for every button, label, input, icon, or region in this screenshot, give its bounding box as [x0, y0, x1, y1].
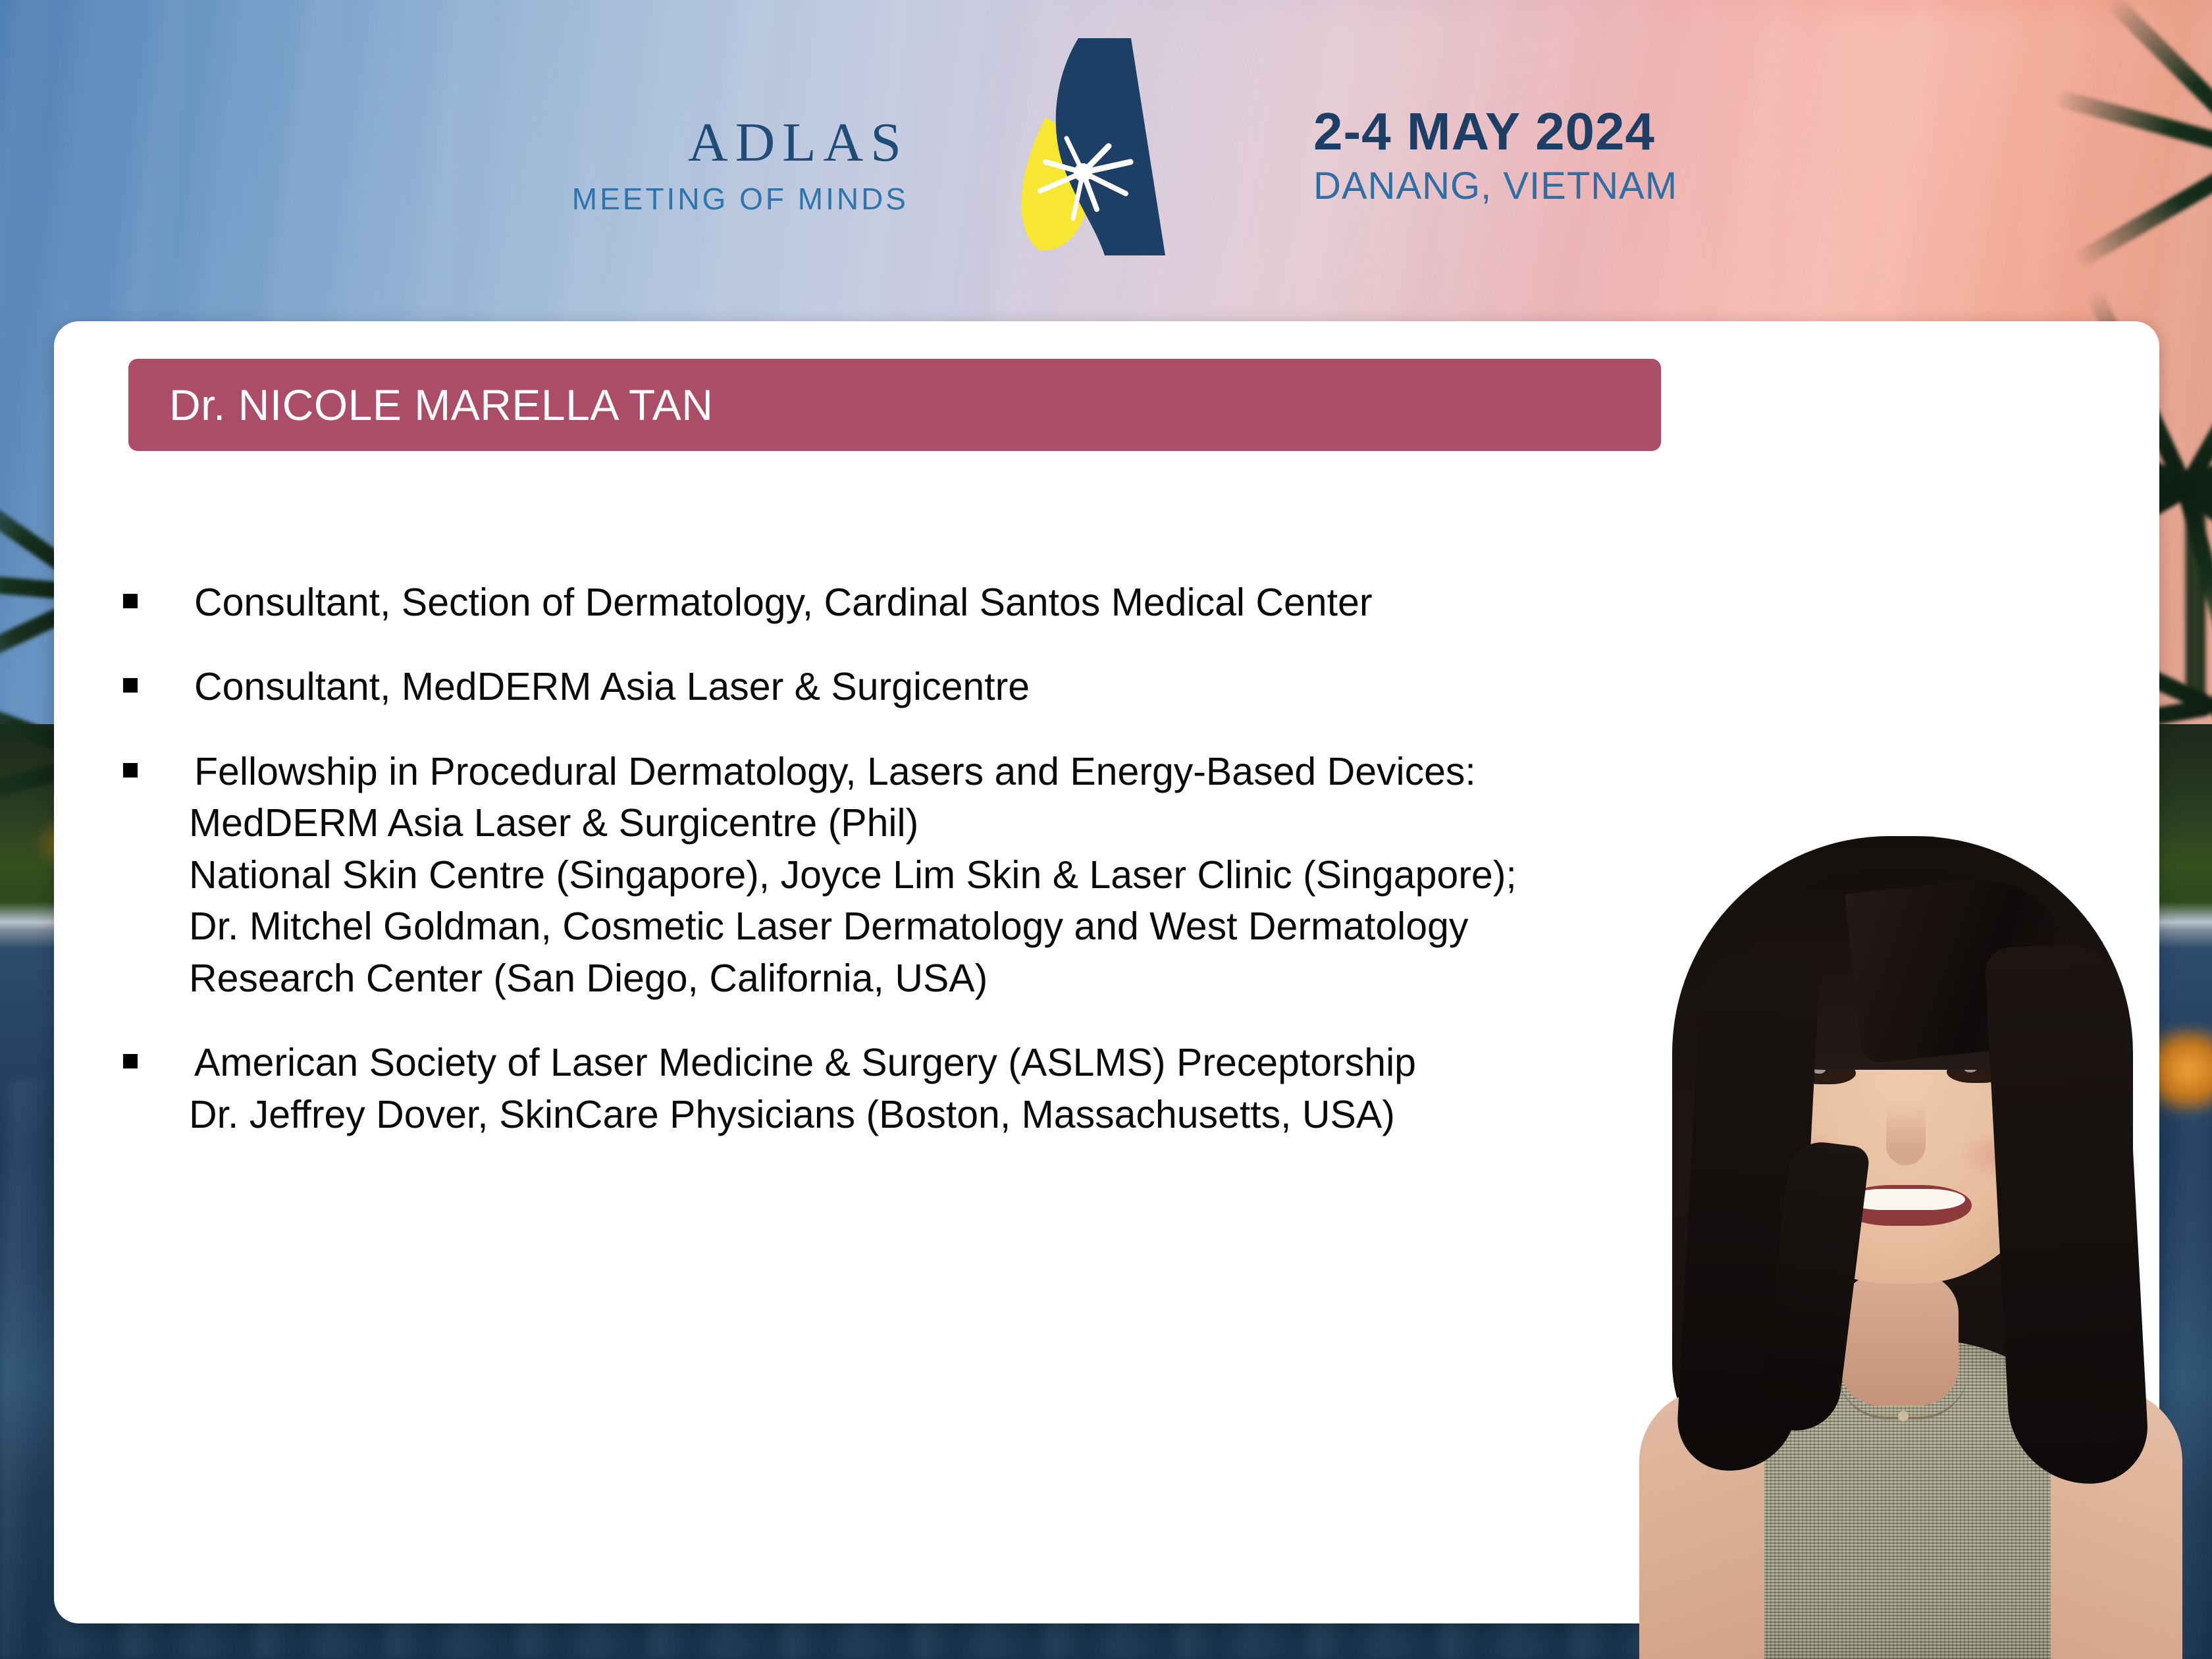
- bullet-square-icon: [123, 678, 138, 693]
- speaker-bio-list: Consultant, Section of Dermatology, Card…: [123, 577, 1808, 1173]
- bio-line: Consultant, Section of Dermatology, Card…: [189, 577, 1372, 628]
- event-details: 2-4 MAY 2024 DANANG, VIETNAM: [1313, 105, 1774, 205]
- bullet-square-icon: [123, 1054, 138, 1068]
- bio-line: Fellowship in Procedural Dermatology, La…: [189, 746, 1517, 797]
- bullet-square-icon: [123, 594, 138, 608]
- speaker-name-banner: Dr. NICOLE MARELLA TAN: [128, 359, 1661, 451]
- bullet-square-icon: [123, 763, 138, 777]
- bio-item: American Society of Laser Medicine & Sur…: [123, 1037, 1808, 1140]
- bio-line: National Skin Centre (Singapore), Joyce …: [189, 849, 1517, 901]
- speaker-name: Dr. NICOLE MARELLA TAN: [128, 380, 713, 430]
- adlas-a-laser-spark-logo: [968, 33, 1205, 270]
- brand-lockup: ADLAS MEETING OF MINDS: [500, 115, 908, 217]
- event-header: ADLAS MEETING OF MINDS 2-4 MAY 2024: [0, 0, 2212, 309]
- hair-strand-right: [1984, 941, 2151, 1488]
- bio-line: Consultant, MedDERM Asia Laser & Surgice…: [189, 661, 1030, 712]
- bio-line: MedDERM Asia Laser & Surgicentre (Phil): [189, 797, 1517, 849]
- speaker-headshot-photo: [1577, 774, 2212, 1659]
- event-location: DANANG, VIETNAM: [1313, 167, 1774, 205]
- event-date: 2-4 MAY 2024: [1313, 105, 1774, 158]
- bio-line: Dr. Jeffrey Dover, SkinCare Physicians (…: [189, 1089, 1416, 1140]
- bio-line: Research Center (San Diego, California, …: [189, 953, 1517, 1004]
- brand-tagline: MEETING OF MINDS: [500, 181, 908, 217]
- nose: [1886, 1103, 1926, 1165]
- bio-item: Consultant, MedDERM Asia Laser & Surgice…: [123, 661, 1808, 712]
- bio-line: Dr. Mitchel Goldman, Cosmetic Laser Derm…: [189, 901, 1517, 952]
- necklace-pendant: [1898, 1411, 1909, 1421]
- bio-line: American Society of Laser Medicine & Sur…: [189, 1037, 1416, 1088]
- brand-name: ADLAS: [500, 115, 908, 171]
- bio-item: Fellowship in Procedural Dermatology, La…: [123, 746, 1808, 1004]
- bio-item: Consultant, Section of Dermatology, Card…: [123, 577, 1808, 628]
